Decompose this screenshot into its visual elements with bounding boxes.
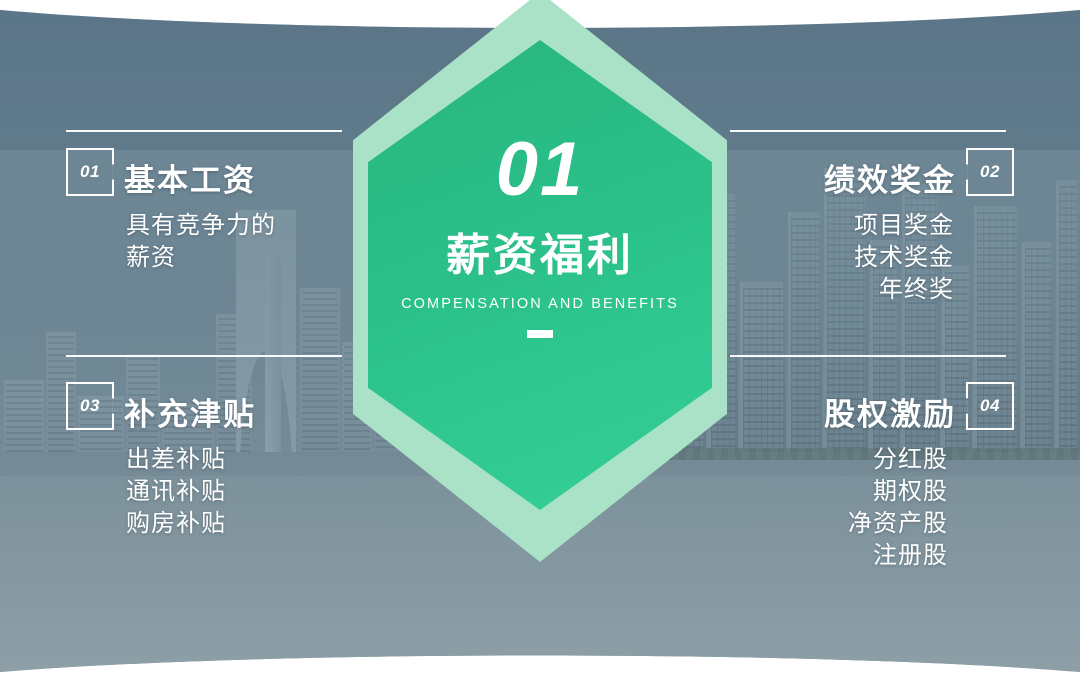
list-item: 薪资 (126, 242, 276, 274)
center-subtitle: COMPENSATION AND BENEFITS (401, 296, 679, 312)
quadrant-2-title: 绩效奖金 (824, 165, 956, 196)
slide-canvas: 01 薪资福利 COMPENSATION AND BENEFITS 01 基本工… (0, 0, 1080, 684)
quadrant-3-title: 补充津贴 (124, 399, 256, 430)
number-badge-03-label: 03 (68, 396, 112, 416)
quadrant-1-title: 基本工资 (124, 165, 256, 196)
quadrant-basic-salary: 01 基本工资 具有竞争力的 薪资 (66, 148, 276, 274)
list-item: 具有竞争力的 (126, 210, 276, 242)
list-item: 期权股 (824, 476, 948, 508)
list-item: 通讯补贴 (126, 476, 256, 508)
number-badge-02-label: 02 (968, 162, 1012, 182)
quadrant-equity-incentive: 股权激励 04 分红股 期权股 净资产股 注册股 (824, 382, 1014, 573)
center-title: 薪资福利 (446, 234, 634, 278)
center-number: 01 (496, 132, 585, 208)
quadrant-4-list: 分红股 期权股 净资产股 注册股 (824, 444, 948, 573)
divider-top-right (730, 130, 1006, 132)
divider-middle-left (66, 355, 342, 357)
list-item: 年终奖 (824, 274, 954, 306)
list-item: 技术奖金 (824, 242, 954, 274)
quadrant-performance-bonus: 绩效奖金 02 项目奖金 技术奖金 年终奖 (824, 148, 1014, 306)
list-item: 出差补贴 (126, 444, 256, 476)
quadrant-3-list: 出差补贴 通讯补贴 购房补贴 (126, 444, 256, 540)
list-item: 注册股 (824, 540, 948, 572)
quadrant-2-header: 绩效奖金 02 (824, 148, 1014, 196)
center-badge: 01 薪资福利 COMPENSATION AND BENEFITS (368, 40, 712, 510)
divider-middle-right (730, 355, 1006, 357)
quadrant-1-list: 具有竞争力的 薪资 (126, 210, 276, 274)
number-badge-04: 04 (966, 382, 1014, 430)
divider-top-left (66, 130, 342, 132)
center-dash-accent (527, 330, 553, 338)
list-item: 项目奖金 (824, 210, 954, 242)
number-badge-01-label: 01 (68, 162, 112, 182)
quadrant-4-header: 股权激励 04 (824, 382, 1014, 430)
number-badge-03: 03 (66, 382, 114, 430)
quadrant-1-header: 01 基本工资 (66, 148, 276, 196)
list-item: 净资产股 (824, 508, 948, 540)
quadrant-2-list: 项目奖金 技术奖金 年终奖 (824, 210, 954, 306)
number-badge-04-label: 04 (968, 396, 1012, 416)
quadrant-supplementary-allowance: 03 补充津贴 出差补贴 通讯补贴 购房补贴 (66, 382, 256, 540)
quadrant-3-header: 03 补充津贴 (66, 382, 256, 430)
number-badge-02: 02 (966, 148, 1014, 196)
list-item: 购房补贴 (126, 508, 256, 540)
number-badge-01: 01 (66, 148, 114, 196)
quadrant-4-title: 股权激励 (824, 399, 956, 430)
list-item: 分红股 (824, 444, 948, 476)
